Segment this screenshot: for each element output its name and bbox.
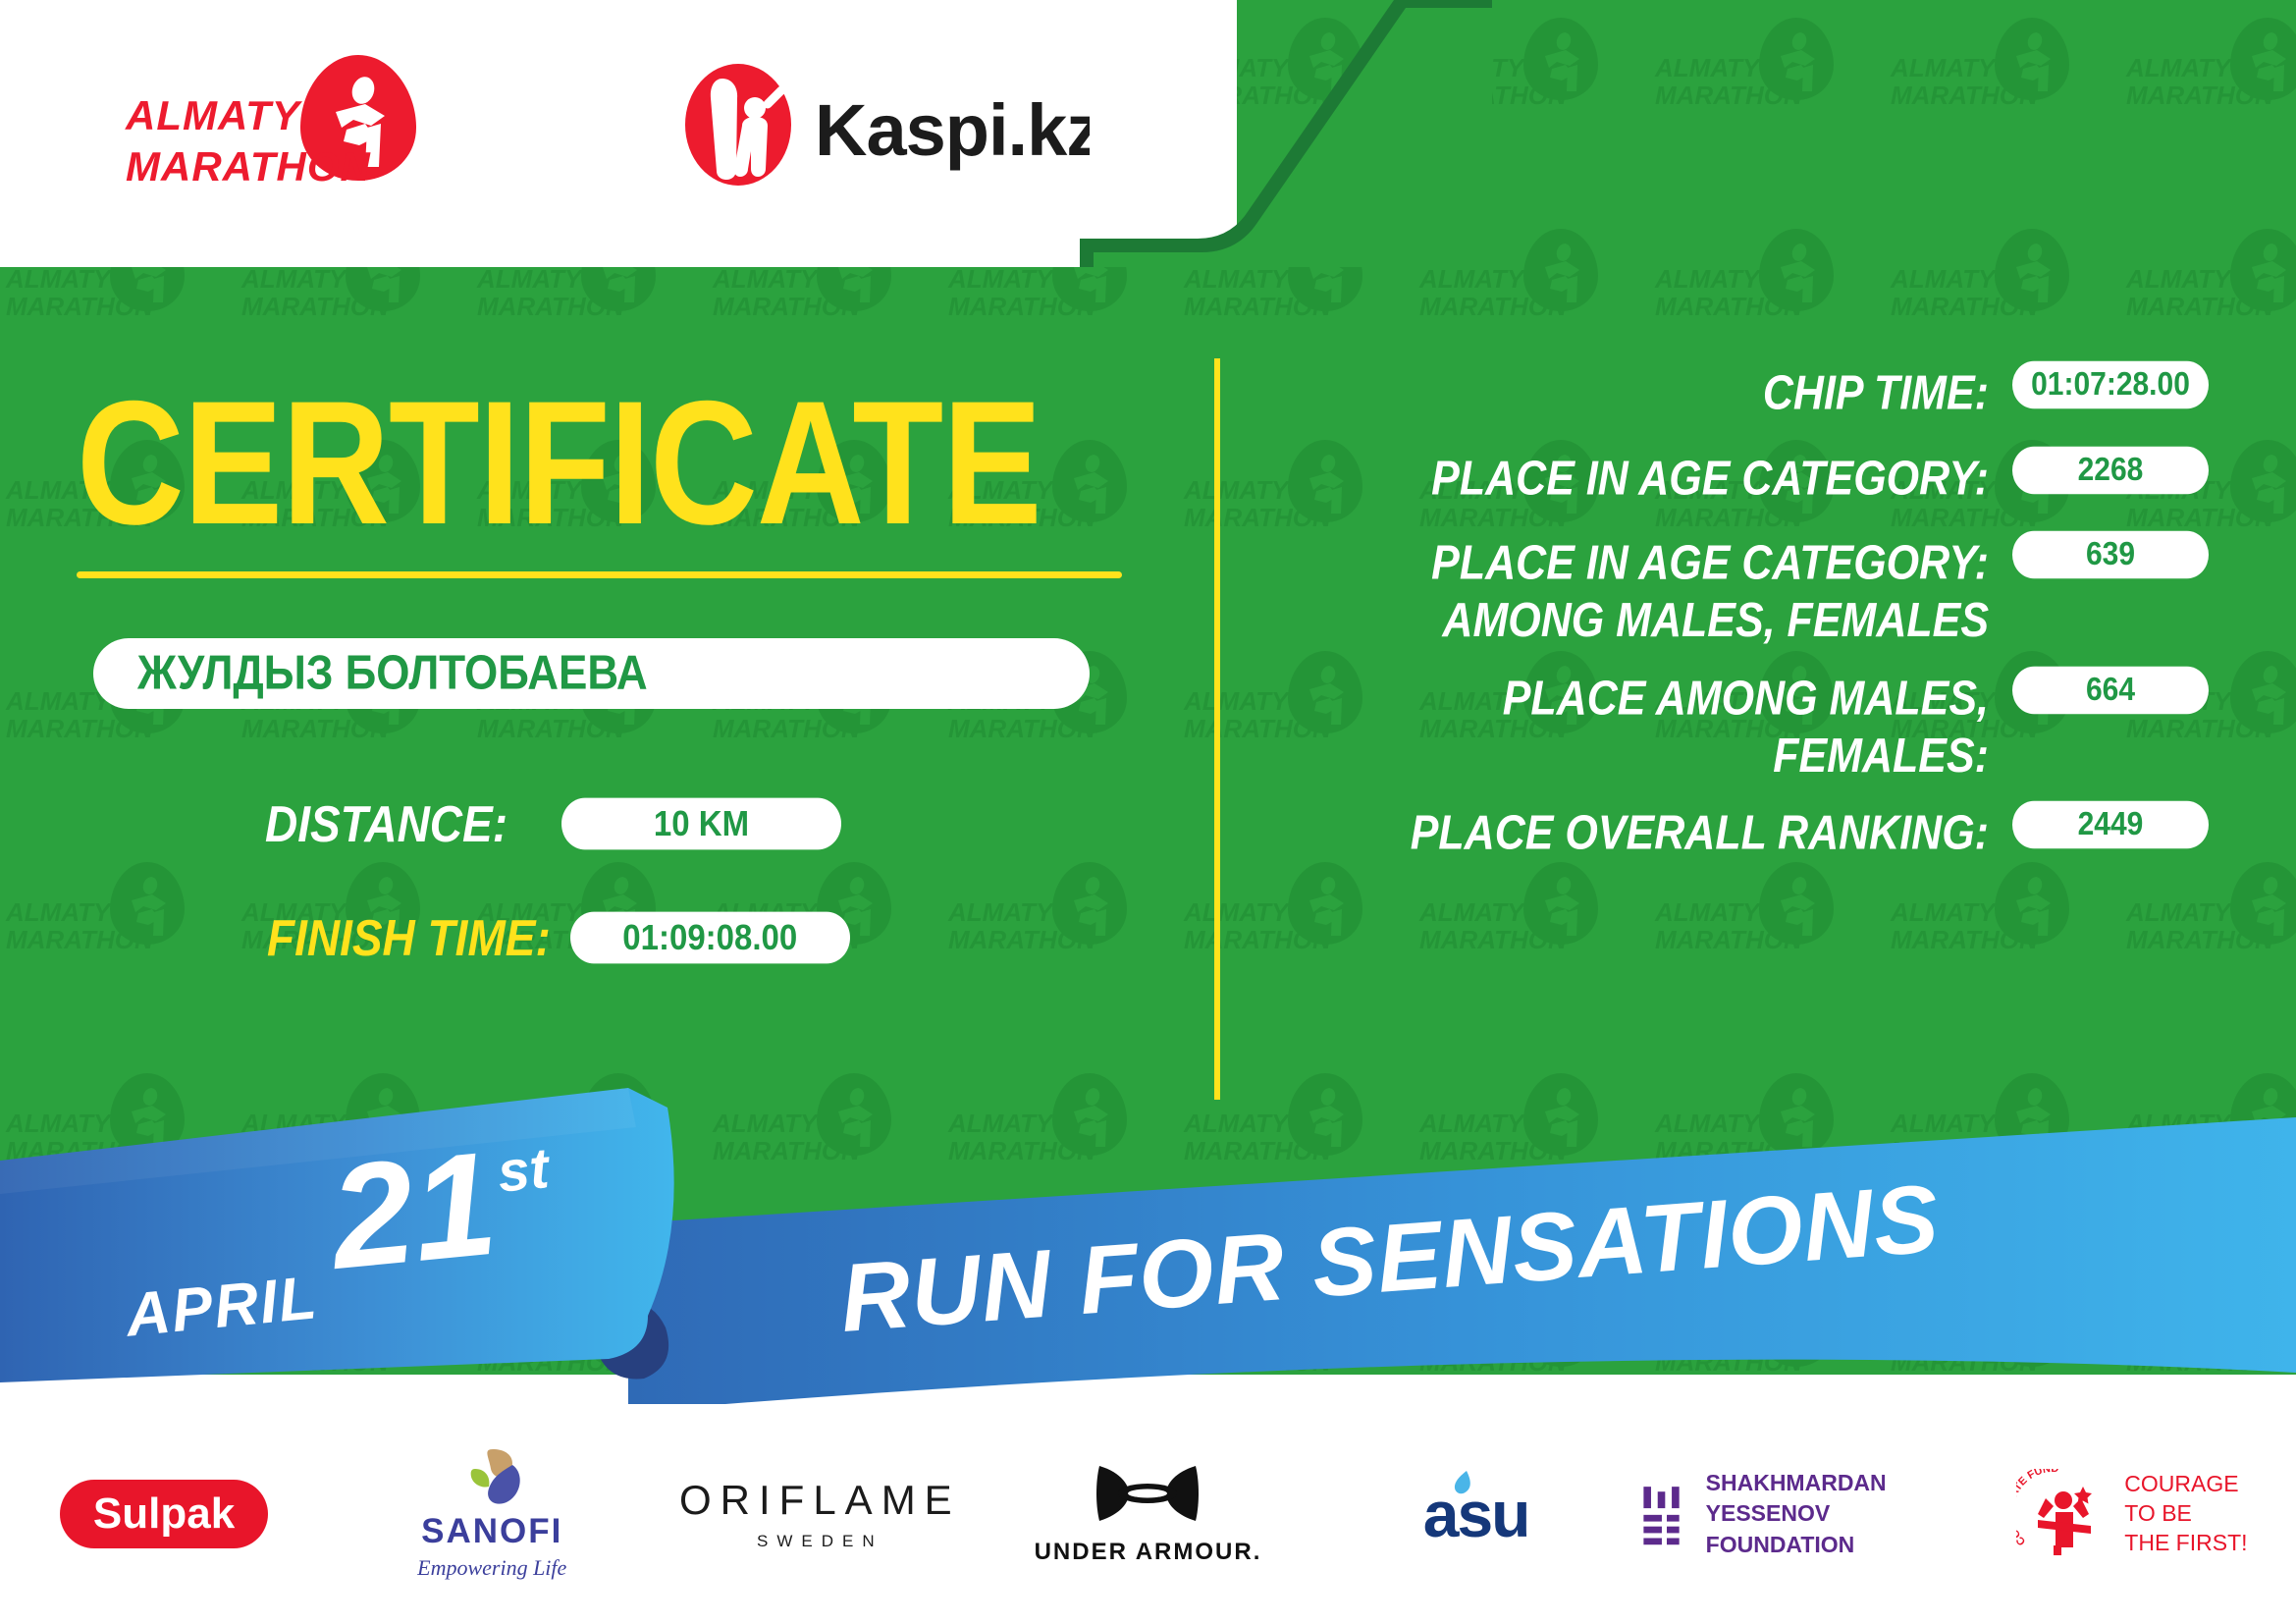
sponsor-oriflame: ORIFLAME SWEDEN [656,1477,984,1551]
sanofi-tagline: Empowering Life [417,1555,566,1581]
result-label: CHIP TIME: [1276,363,1989,422]
header-diagonal-edge [1080,0,1492,267]
distance-value: 10 KM [561,798,841,850]
sponsor-yessenov-foundation: SHAKHMARDAN YESSENOV FOUNDATION [1640,1468,1968,1559]
result-label: PLACE IN AGE CATEGORY: AMONG MALES, FEMA… [1276,533,1989,649]
sponsor-sanofi: SANOFI Empowering Life [328,1447,656,1581]
oriflame-subtitle: SWEDEN [757,1532,883,1551]
yessenov-line2: FOUNDATION [1706,1530,1968,1560]
almaty-marathon-logo: ALMATY MARATHON [118,47,442,204]
kaspi-wordmark: Kaspi.kz [815,89,1090,171]
yessenov-mark-icon [1640,1478,1688,1550]
finish-time-value: 01:09:08.00 [570,912,850,964]
courage-line2: TO BE [2124,1499,2247,1529]
result-value: 664 [2012,667,2209,714]
corporate-fund-arc-text: CORPORATE FUND [2016,1469,2059,1547]
result-row: PLACE AMONG MALES, FEMALES: 664 [1276,669,2209,770]
logo-text-marathon: MARATHON [126,143,372,189]
under-armour-mark-icon [1094,1462,1201,1533]
result-value: 2449 [2012,801,2209,848]
result-row: PLACE IN AGE CATEGORY: AMONG MALES, FEMA… [1276,533,2209,634]
result-value: 2268 [2012,447,2209,494]
sponsor-bar: Sulpak SANOFI Empowering Life ORIFLAME S… [0,1404,2296,1624]
distance-row: DISTANCE: 10 KM [265,797,841,850]
asu-wordmark: asu [1423,1477,1529,1551]
result-row: PLACE OVERALL RANKING: 2449 [1276,803,2209,855]
participant-name: ЖУЛДЫЗ БОЛТОБАЕВА [137,646,648,701]
yessenov-line1: SHAKHMARDAN YESSENOV [1706,1468,1968,1529]
event-day-suffix: st [495,1135,552,1206]
kaspi-logo: Kaspi.kz [677,61,1090,189]
finish-time-label: FINISH TIME: [267,908,551,967]
sponsor-corporate-fund: CORPORATE FUND COURAGE TO BE THE FIRST! [1968,1469,2296,1559]
result-row: PLACE IN AGE CATEGORY: 2268 [1276,449,2209,501]
distance-label: DISTANCE: [265,794,507,853]
sanofi-mark-icon [450,1447,534,1508]
sponsor-asu: asu [1312,1477,1640,1551]
courage-line3: THE FIRST! [2124,1529,2247,1558]
result-value: 639 [2012,531,2209,578]
result-label: PLACE OVERALL RANKING: [1276,803,1989,862]
result-label: PLACE AMONG MALES, FEMALES: [1276,669,1989,785]
event-day: 21 [325,1129,502,1291]
logo-text-almaty: ALMATY [125,92,303,138]
sulpak-logo: Sulpak [60,1480,268,1548]
column-divider [1214,358,1220,1100]
asu-droplet-icon [1449,1469,1474,1498]
sanofi-wordmark: SANOFI [421,1512,562,1551]
under-armour-wordmark: UNDER ARMOUR. [1035,1539,1262,1566]
results-list: CHIP TIME: 01:07:28.00 PLACE IN AGE CATE… [1276,363,2209,889]
participant-name-field: ЖУЛДЫЗ БОЛТОБАЕВА [93,638,1090,709]
page-title: CERTIFICATE [77,375,1041,551]
result-row: CHIP TIME: 01:07:28.00 [1276,363,2209,415]
result-label: PLACE IN AGE CATEGORY: [1276,449,1989,508]
oriflame-wordmark: ORIFLAME [679,1477,961,1524]
title-underline [77,571,1122,578]
finish-time-row: FINISH TIME: 01:09:08.00 [267,911,850,964]
sponsor-sulpak: Sulpak [0,1480,328,1548]
sponsor-under-armour: UNDER ARMOUR. [984,1462,1311,1566]
certificate-canvas: ALMATY MARATHON Kaspi.kz CERTIFICATE ЖУЛ… [0,0,2296,1624]
courage-line1: COURAGE [2124,1470,2247,1499]
courage-first-mark-icon: CORPORATE FUND [2016,1469,2110,1559]
result-value: 01:07:28.00 [2012,361,2209,408]
svg-text:CORPORATE FUND: CORPORATE FUND [2016,1469,2059,1547]
